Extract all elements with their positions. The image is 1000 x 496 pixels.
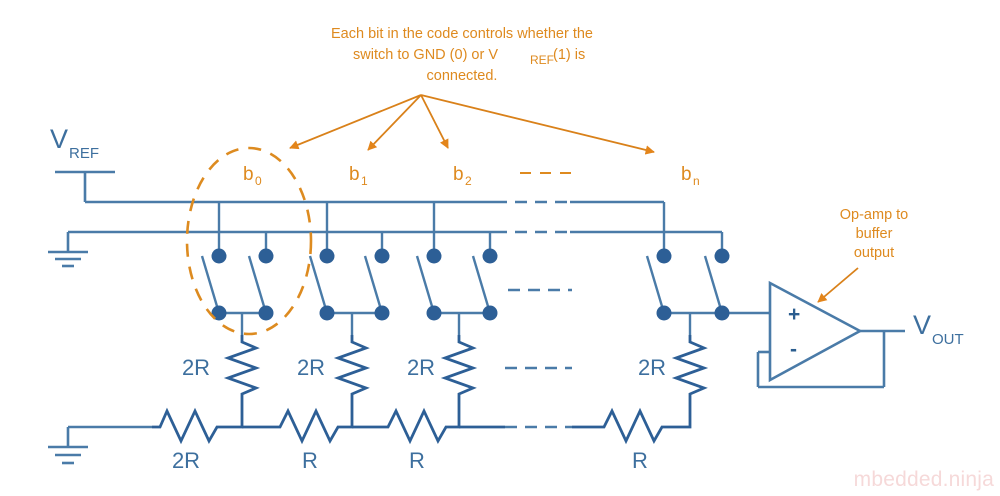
note-line-2a: switch to GND (0) or V [353, 47, 498, 63]
gnd-top-symbol [48, 232, 88, 266]
bit-label-bn: b n [681, 164, 700, 188]
resistor-r-2 [352, 411, 459, 441]
ladder-bottom-rail [152, 411, 505, 441]
label-r-2: R [409, 448, 425, 473]
bn-node-gnd[interactable] [715, 249, 730, 264]
bit-label-b2: b 2 [453, 164, 472, 188]
switch-group-bn[interactable] [647, 202, 768, 335]
watermark: mbedded.ninja [854, 468, 994, 492]
resistor-2r-b1 [338, 335, 366, 412]
label-2r-bn: 2R [638, 355, 666, 380]
bn-node-pole-left[interactable] [657, 306, 672, 321]
b1-throw-left[interactable] [310, 256, 327, 313]
gnd-bottom-symbol [48, 427, 152, 463]
bit-label-b1-base: b [349, 164, 360, 185]
opamp-note-line-1: Op-amp to [840, 207, 909, 223]
label-2r-b2: 2R [407, 355, 435, 380]
label-2r-series: 2R [172, 448, 200, 473]
label-2r-b0: 2R [182, 355, 210, 380]
bit-label-b0-base: b [243, 164, 254, 185]
b2-node-vref[interactable] [427, 249, 442, 264]
b2-throw-right[interactable] [473, 256, 490, 313]
opamp-note-line-3: output [854, 245, 894, 261]
bn-throw-left[interactable] [647, 256, 664, 313]
vref-label: V [50, 124, 68, 154]
bit-label-bn-base: b [681, 164, 692, 185]
vout-label: V [913, 310, 931, 340]
bit-label-b1-sub: 1 [361, 174, 368, 188]
bit-label-b1: b 1 [349, 164, 368, 188]
note-line-2b: (1) is [553, 47, 585, 63]
resistor-2r-b0 [228, 335, 256, 412]
opamp-note: Op-amp to buffer output [818, 207, 908, 302]
switch-group-b1[interactable] [310, 202, 390, 335]
b1-node-pole-left[interactable] [320, 306, 335, 321]
opamp-plus-sign: + [788, 303, 800, 326]
resistor-2r-b2 [445, 335, 473, 412]
b1-node-gnd[interactable] [375, 249, 390, 264]
b2-throw-left[interactable] [417, 256, 434, 313]
label-r-1: R [302, 448, 318, 473]
ladder-bottom-rail-right [572, 411, 690, 441]
opamp[interactable]: + - [758, 283, 905, 387]
b0-node-gnd[interactable] [259, 249, 274, 264]
opamp-note-line-2: buffer [856, 226, 893, 242]
bn-throw-right[interactable] [705, 256, 722, 313]
b2-node-gnd[interactable] [483, 249, 498, 264]
b0-node-vref[interactable] [212, 249, 227, 264]
note-line-1: Each bit in the code controls whether th… [331, 26, 593, 42]
diagram-canvas: Each bit in the code controls whether th… [0, 0, 1000, 496]
bit-label-b0-sub: 0 [255, 174, 262, 188]
vout-label-group: V OUT [913, 310, 964, 348]
bn-node-pole-right[interactable] [715, 306, 730, 321]
arrow-to-b1 [368, 95, 421, 150]
bit-control-note: Each bit in the code controls whether th… [331, 26, 593, 84]
arrow-to-bn [421, 95, 654, 152]
resistor-r-n [572, 411, 690, 441]
switch-group-b2[interactable] [417, 202, 498, 335]
resistor-2r-bn [676, 335, 704, 412]
vref-terminal: V REF [50, 124, 115, 202]
vout-label-sub: OUT [932, 331, 964, 348]
bit-label-b2-base: b [453, 164, 464, 185]
bit-label-b0: b 0 [243, 164, 262, 188]
circuit-schematic: Each bit in the code controls whether th… [0, 0, 1000, 496]
b0-node-pole-right[interactable] [259, 306, 274, 321]
opamp-body[interactable] [770, 283, 860, 380]
resistor-2r-left-series [152, 411, 242, 441]
bit-label-b2-sub: 2 [465, 174, 472, 188]
bit-label-bn-sub: n [693, 174, 700, 188]
note-line-2-sub: REF [530, 53, 554, 67]
label-r-n: R [632, 448, 648, 473]
opamp-note-arrow [818, 268, 858, 302]
b1-throw-right[interactable] [365, 256, 382, 313]
b0-throw-right[interactable] [249, 256, 266, 313]
b2-node-pole-right[interactable] [483, 306, 498, 321]
label-2r-b1: 2R [297, 355, 325, 380]
arrow-to-b2 [421, 95, 448, 148]
b1-node-vref[interactable] [320, 249, 335, 264]
bit-labels: b 0 b 1 b 2 b n [243, 164, 700, 188]
note-arrows [290, 95, 654, 152]
vref-label-sub: REF [69, 145, 99, 162]
opamp-minus-sign: - [790, 338, 797, 361]
arrow-to-b0 [290, 95, 421, 148]
bn-node-vref[interactable] [657, 249, 672, 264]
horizontal-resistor-labels: 2R R R R [172, 448, 648, 473]
b0-throw-left[interactable] [202, 256, 219, 313]
resistor-r-1 [242, 411, 352, 441]
b1-node-pole-right[interactable] [375, 306, 390, 321]
b2-node-pole-left[interactable] [427, 306, 442, 321]
note-line-3: connected. [427, 68, 498, 84]
